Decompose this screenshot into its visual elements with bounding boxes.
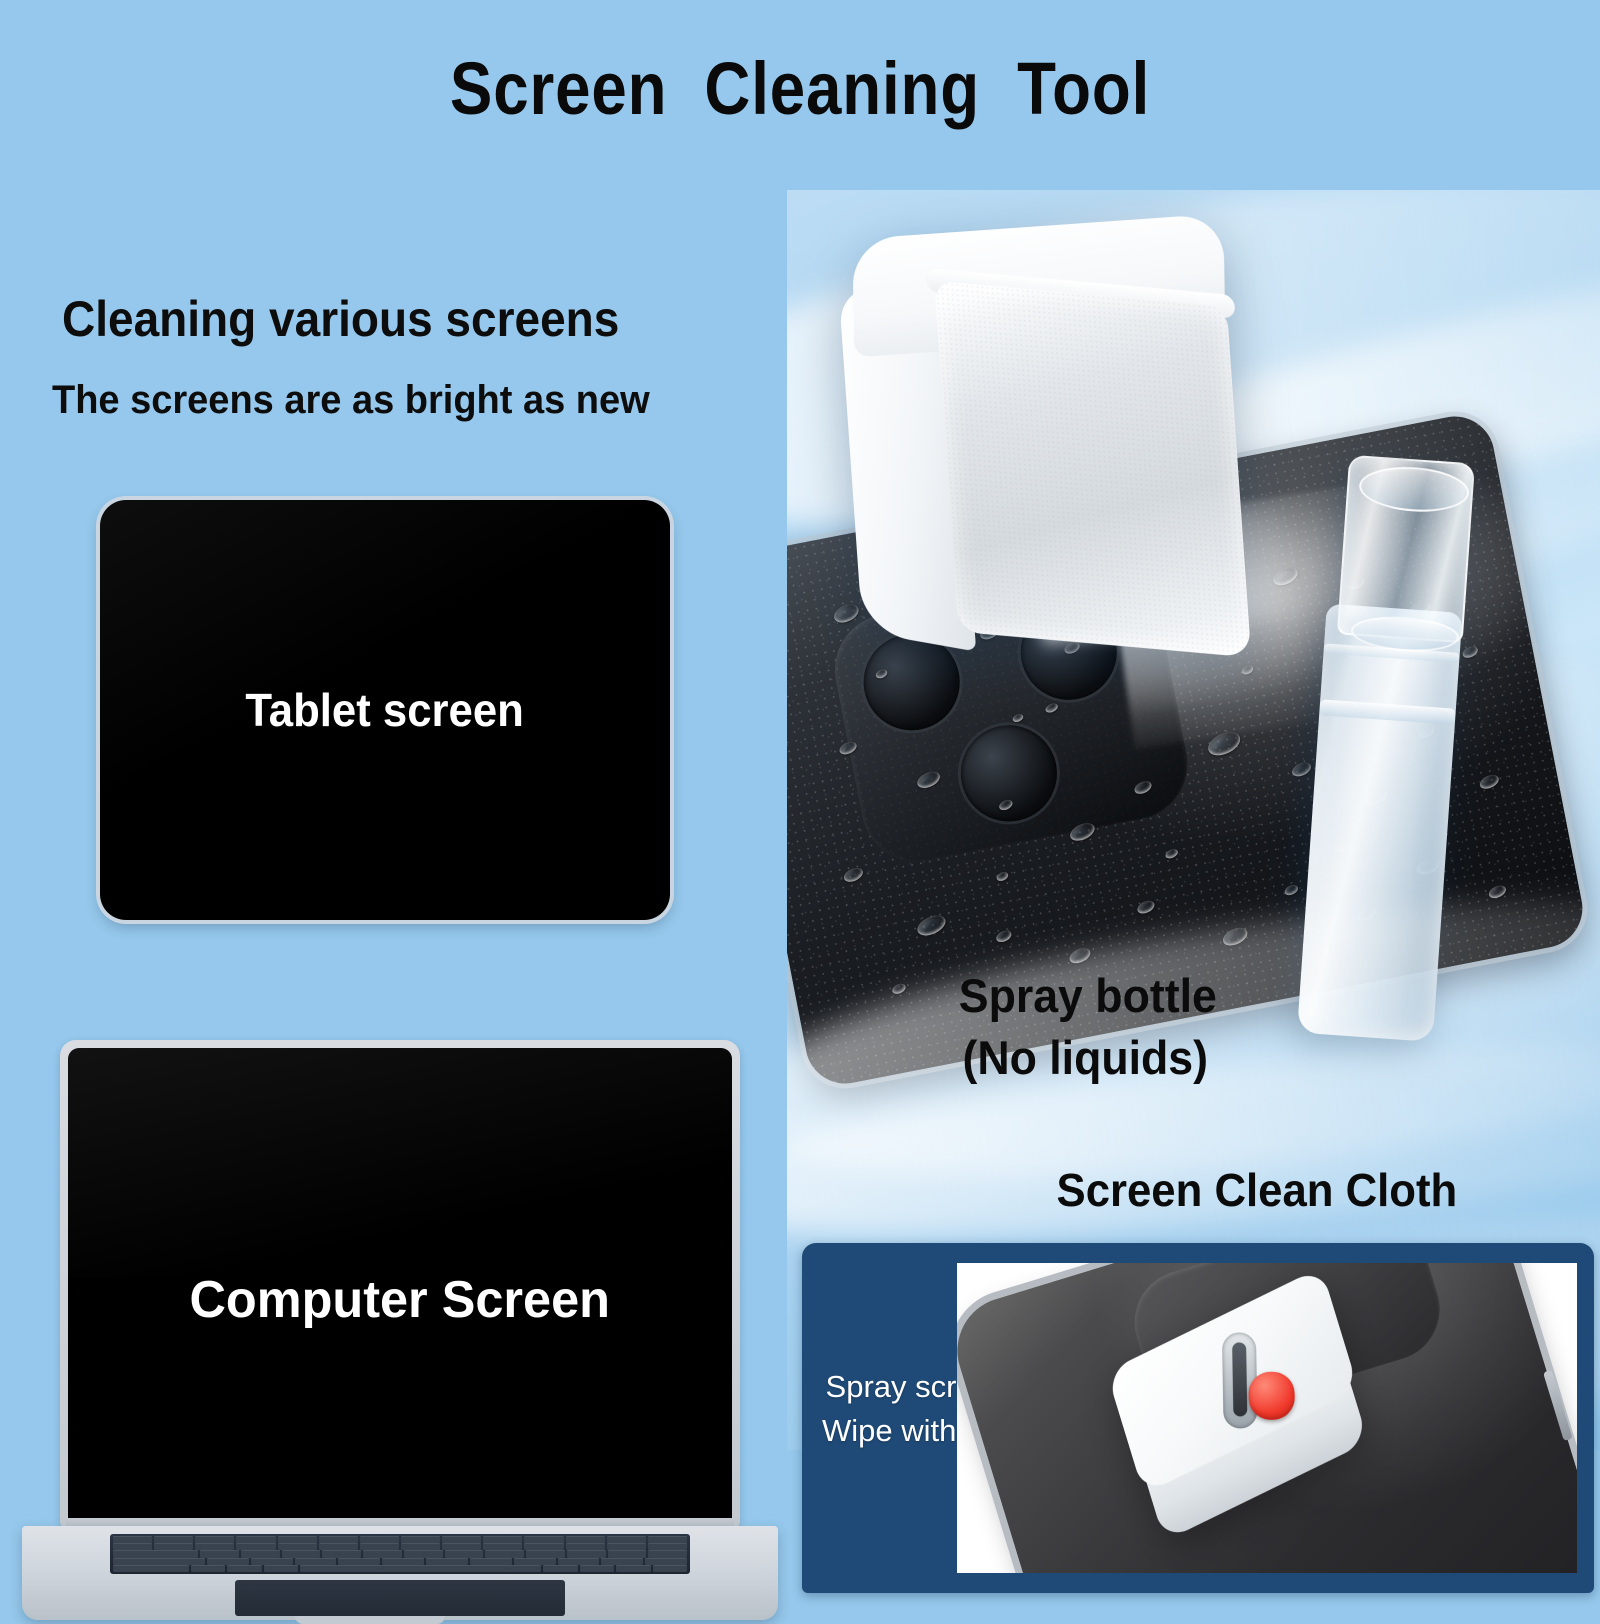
- keyboard-row: [113, 1543, 687, 1550]
- keyboard-key: [645, 1558, 687, 1565]
- keyboard-key: [483, 1543, 522, 1550]
- keyboard-key: [191, 1565, 225, 1572]
- keyboard-key: [470, 1558, 512, 1565]
- keyboard-key: [524, 1536, 563, 1543]
- keyboard-key: [241, 1550, 280, 1557]
- keyboard-key: [401, 1543, 440, 1550]
- inset-box-red-slider: [1248, 1371, 1295, 1420]
- tablet-screen-label: Tablet screen: [246, 683, 525, 737]
- cleaning-pad-block: [835, 213, 1263, 650]
- keyboard-key: [404, 1550, 443, 1557]
- keyboard-key: [524, 1543, 563, 1550]
- keyboard-key: [278, 1536, 317, 1543]
- keyboard-key: [616, 1565, 650, 1572]
- keyboard-key: [322, 1550, 361, 1557]
- laptop-keyboard: [110, 1534, 690, 1574]
- laptop-device: Computer Screen: [20, 1040, 780, 1600]
- keyboard-key: [236, 1536, 275, 1543]
- keyboard-key: [278, 1543, 317, 1550]
- keyboard-key: [113, 1558, 205, 1565]
- keyboard-key: [401, 1536, 440, 1543]
- keyboard-key: [200, 1550, 239, 1557]
- keyboard-row: [113, 1565, 687, 1572]
- pad-microfiber-face: [934, 281, 1251, 658]
- keyboard-key: [113, 1550, 198, 1557]
- keyboard-key: [566, 1536, 605, 1543]
- keyboard-key: [514, 1558, 556, 1565]
- keyboard-key: [113, 1536, 152, 1543]
- keyboard-key: [236, 1543, 275, 1550]
- keyboard-key: [319, 1543, 358, 1550]
- keyboard-key: [113, 1543, 152, 1550]
- laptop-trackpad: [235, 1580, 565, 1616]
- instruction-panel: Spray screen cleaner Wipe with a Fiber c…: [802, 1243, 1594, 1593]
- keyboard-key: [483, 1536, 522, 1543]
- keyboard-key: [300, 1565, 541, 1572]
- keyboard-key: [648, 1536, 687, 1543]
- keyboard-key: [442, 1543, 481, 1550]
- keyboard-key: [363, 1550, 402, 1557]
- keyboard-key: [485, 1550, 524, 1557]
- laptop-screen: Computer Screen: [68, 1048, 732, 1527]
- keyboard-row: [113, 1550, 687, 1557]
- keyboard-key: [382, 1558, 424, 1565]
- tablet-device: Tablet screen: [100, 500, 670, 920]
- keyboard-key: [154, 1543, 193, 1550]
- keyboard-key: [607, 1543, 646, 1550]
- inset-phone-side-button: [1543, 1370, 1573, 1441]
- page-title: Screen Cleaning Tool: [112, 46, 1488, 131]
- keyboard-key: [648, 1543, 687, 1550]
- keyboard-key: [360, 1536, 399, 1543]
- keyboard-key: [580, 1565, 614, 1572]
- keyboard-key: [338, 1558, 380, 1565]
- camera-lens-icon: [953, 717, 1066, 830]
- keyboard-key: [319, 1536, 358, 1543]
- keyboard-key: [607, 1536, 646, 1543]
- keyboard-key: [442, 1536, 481, 1543]
- keyboard-key: [648, 1550, 687, 1557]
- keyboard-key: [445, 1550, 484, 1557]
- section-subheading-bright-as-new: The screens are as bright as new: [52, 378, 650, 423]
- keyboard-key: [567, 1550, 606, 1557]
- laptop-lid: Computer Screen: [60, 1040, 740, 1527]
- keyboard-key: [195, 1536, 234, 1543]
- instruction-photo: [957, 1263, 1577, 1573]
- keyboard-key: [113, 1565, 189, 1572]
- computer-screen-label: Computer Screen: [190, 1270, 610, 1330]
- keyboard-key: [360, 1543, 399, 1550]
- keyboard-key: [207, 1558, 249, 1565]
- keyboard-key: [608, 1550, 647, 1557]
- keyboard-key: [251, 1558, 293, 1565]
- bottle-body: [1297, 604, 1463, 1042]
- keyboard-key: [426, 1558, 468, 1565]
- keyboard-row: [113, 1558, 687, 1565]
- keyboard-key: [558, 1558, 600, 1565]
- keyboard-key: [282, 1550, 321, 1557]
- screen-clean-cloth-heading: Screen Clean Cloth: [1057, 1163, 1458, 1217]
- keyboard-key: [295, 1558, 337, 1565]
- keyboard-key: [526, 1550, 565, 1557]
- keyboard-key: [227, 1565, 261, 1572]
- bottle-clear-cap: [1337, 455, 1475, 643]
- keyboard-key: [154, 1536, 193, 1543]
- keyboard-key: [601, 1558, 643, 1565]
- keyboard-key: [543, 1565, 577, 1572]
- keyboard-row: [113, 1536, 687, 1543]
- section-heading-cleaning-various-screens: Cleaning various screens: [62, 290, 619, 348]
- keyboard-key: [264, 1565, 298, 1572]
- keyboard-key: [653, 1565, 687, 1572]
- spray-bottle-label-line2: (No liquids): [962, 1030, 1208, 1085]
- keyboard-key: [566, 1543, 605, 1550]
- keyboard-key: [195, 1543, 234, 1550]
- spray-bottle-label-line1: Spray bottle: [959, 968, 1217, 1023]
